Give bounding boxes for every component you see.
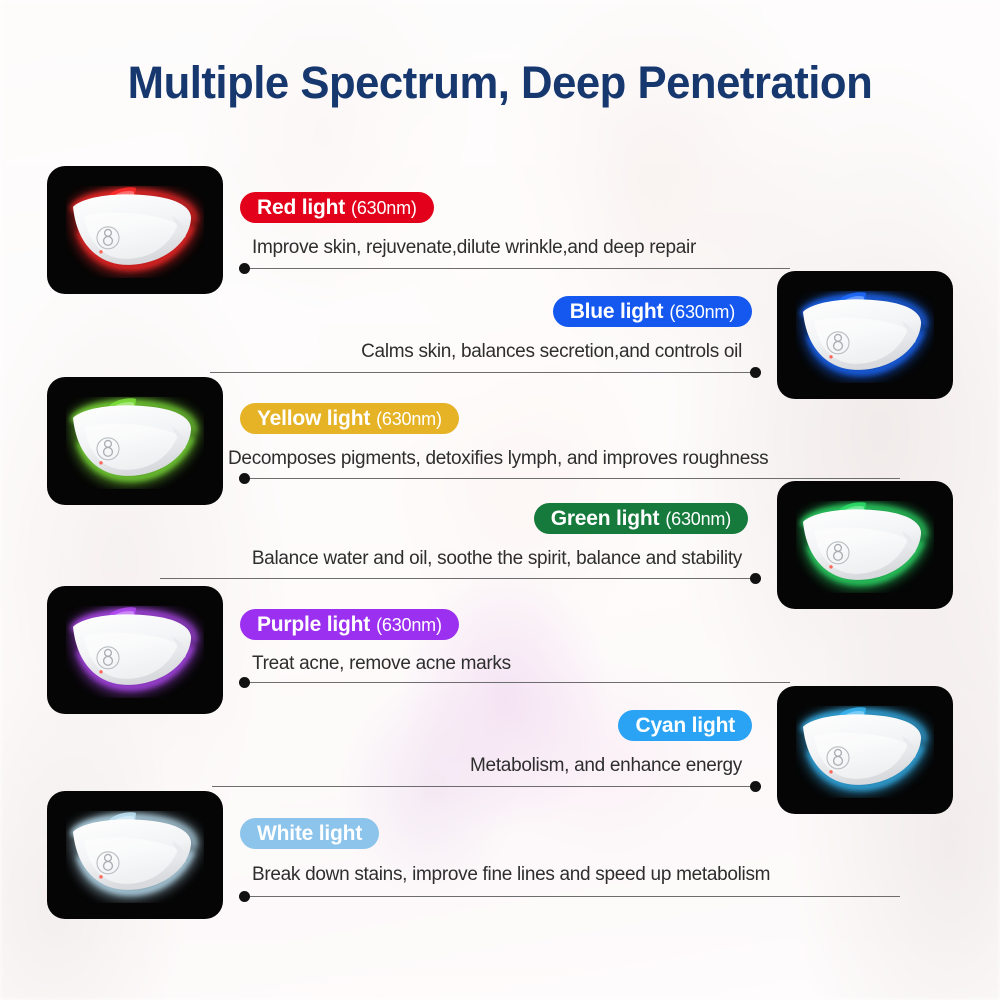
led-mask-illustration	[796, 706, 934, 798]
product-thumbnail-purple[interactable]	[47, 586, 223, 714]
light-description-red: Improve skin, rejuvenate,dilute wrinkle,…	[252, 237, 696, 259]
connector-line-purple	[240, 682, 790, 683]
connector-dot-red	[239, 263, 250, 274]
product-thumbnail-cyan[interactable]	[777, 686, 953, 814]
led-mask-blue	[796, 291, 934, 383]
connector-line-cyan	[212, 786, 760, 787]
light-description-blue: Calms skin, balances secretion,and contr…	[361, 341, 742, 363]
connector-line-white	[240, 896, 900, 897]
connector-dot-cyan	[750, 781, 761, 792]
light-wavelength-yellow: (630nm)	[376, 410, 442, 428]
led-mask-illustration	[66, 186, 204, 278]
light-wavelength-purple: (630nm)	[376, 616, 442, 634]
product-thumbnail-green[interactable]	[777, 481, 953, 609]
light-name-blue: Blue light	[570, 301, 664, 322]
light-name-red: Red light	[257, 197, 345, 218]
led-mask-illustration	[66, 606, 204, 698]
product-thumbnail-white[interactable]	[47, 791, 223, 919]
led-mask-illustration	[796, 501, 934, 593]
light-description-yellow: Decomposes pigments, detoxifies lymph, a…	[228, 448, 768, 470]
led-mask-purple	[66, 606, 204, 698]
light-name-yellow: Yellow light	[257, 408, 370, 429]
led-mask-white	[66, 811, 204, 903]
led-mask-illustration	[66, 397, 204, 489]
light-name-purple: Purple light	[257, 614, 370, 635]
connector-line-red	[240, 268, 790, 269]
product-thumbnail-yellow[interactable]	[47, 377, 223, 505]
connector-dot-white	[239, 891, 250, 902]
connector-line-blue	[210, 372, 760, 373]
connector-dot-green	[750, 573, 761, 584]
light-name-cyan: Cyan light	[635, 715, 735, 736]
product-thumbnail-red[interactable]	[47, 166, 223, 294]
light-wavelength-red: (630nm)	[351, 199, 417, 217]
led-mask-red	[66, 186, 204, 278]
led-mask-green	[796, 501, 934, 593]
light-pill-cyan[interactable]: Cyan light	[618, 710, 752, 741]
led-mask-yellow	[66, 397, 204, 489]
light-pill-purple[interactable]: Purple light(630nm)	[240, 609, 459, 640]
led-mask-illustration	[796, 291, 934, 383]
infographic-stage: Multiple Spectrum, Deep Penetration	[0, 0, 1000, 1000]
light-description-purple: Treat acne, remove acne marks	[252, 653, 511, 675]
connector-dot-yellow	[239, 473, 250, 484]
light-name-green: Green light	[551, 508, 660, 529]
light-pill-red[interactable]: Red light(630nm)	[240, 192, 434, 223]
page-title: Multiple Spectrum, Deep Penetration	[15, 57, 985, 109]
light-pill-yellow[interactable]: Yellow light(630nm)	[240, 403, 459, 434]
light-description-white: Break down stains, improve fine lines an…	[252, 864, 770, 886]
light-pill-blue[interactable]: Blue light(630nm)	[553, 296, 752, 327]
connector-dot-purple	[239, 677, 250, 688]
light-description-cyan: Metabolism, and enhance energy	[470, 755, 742, 777]
light-name-white: White light	[257, 823, 362, 844]
light-pill-green[interactable]: Green light(630nm)	[534, 503, 748, 534]
connector-line-yellow	[240, 478, 900, 479]
light-pill-white[interactable]: White light	[240, 818, 379, 849]
led-mask-cyan	[796, 706, 934, 798]
product-thumbnail-blue[interactable]	[777, 271, 953, 399]
light-wavelength-green: (630nm)	[665, 510, 731, 528]
connector-line-green	[160, 578, 760, 579]
light-wavelength-blue: (630nm)	[669, 303, 735, 321]
connector-dot-blue	[750, 367, 761, 378]
led-mask-illustration	[66, 811, 204, 903]
light-description-green: Balance water and oil, soothe the spirit…	[252, 548, 742, 570]
